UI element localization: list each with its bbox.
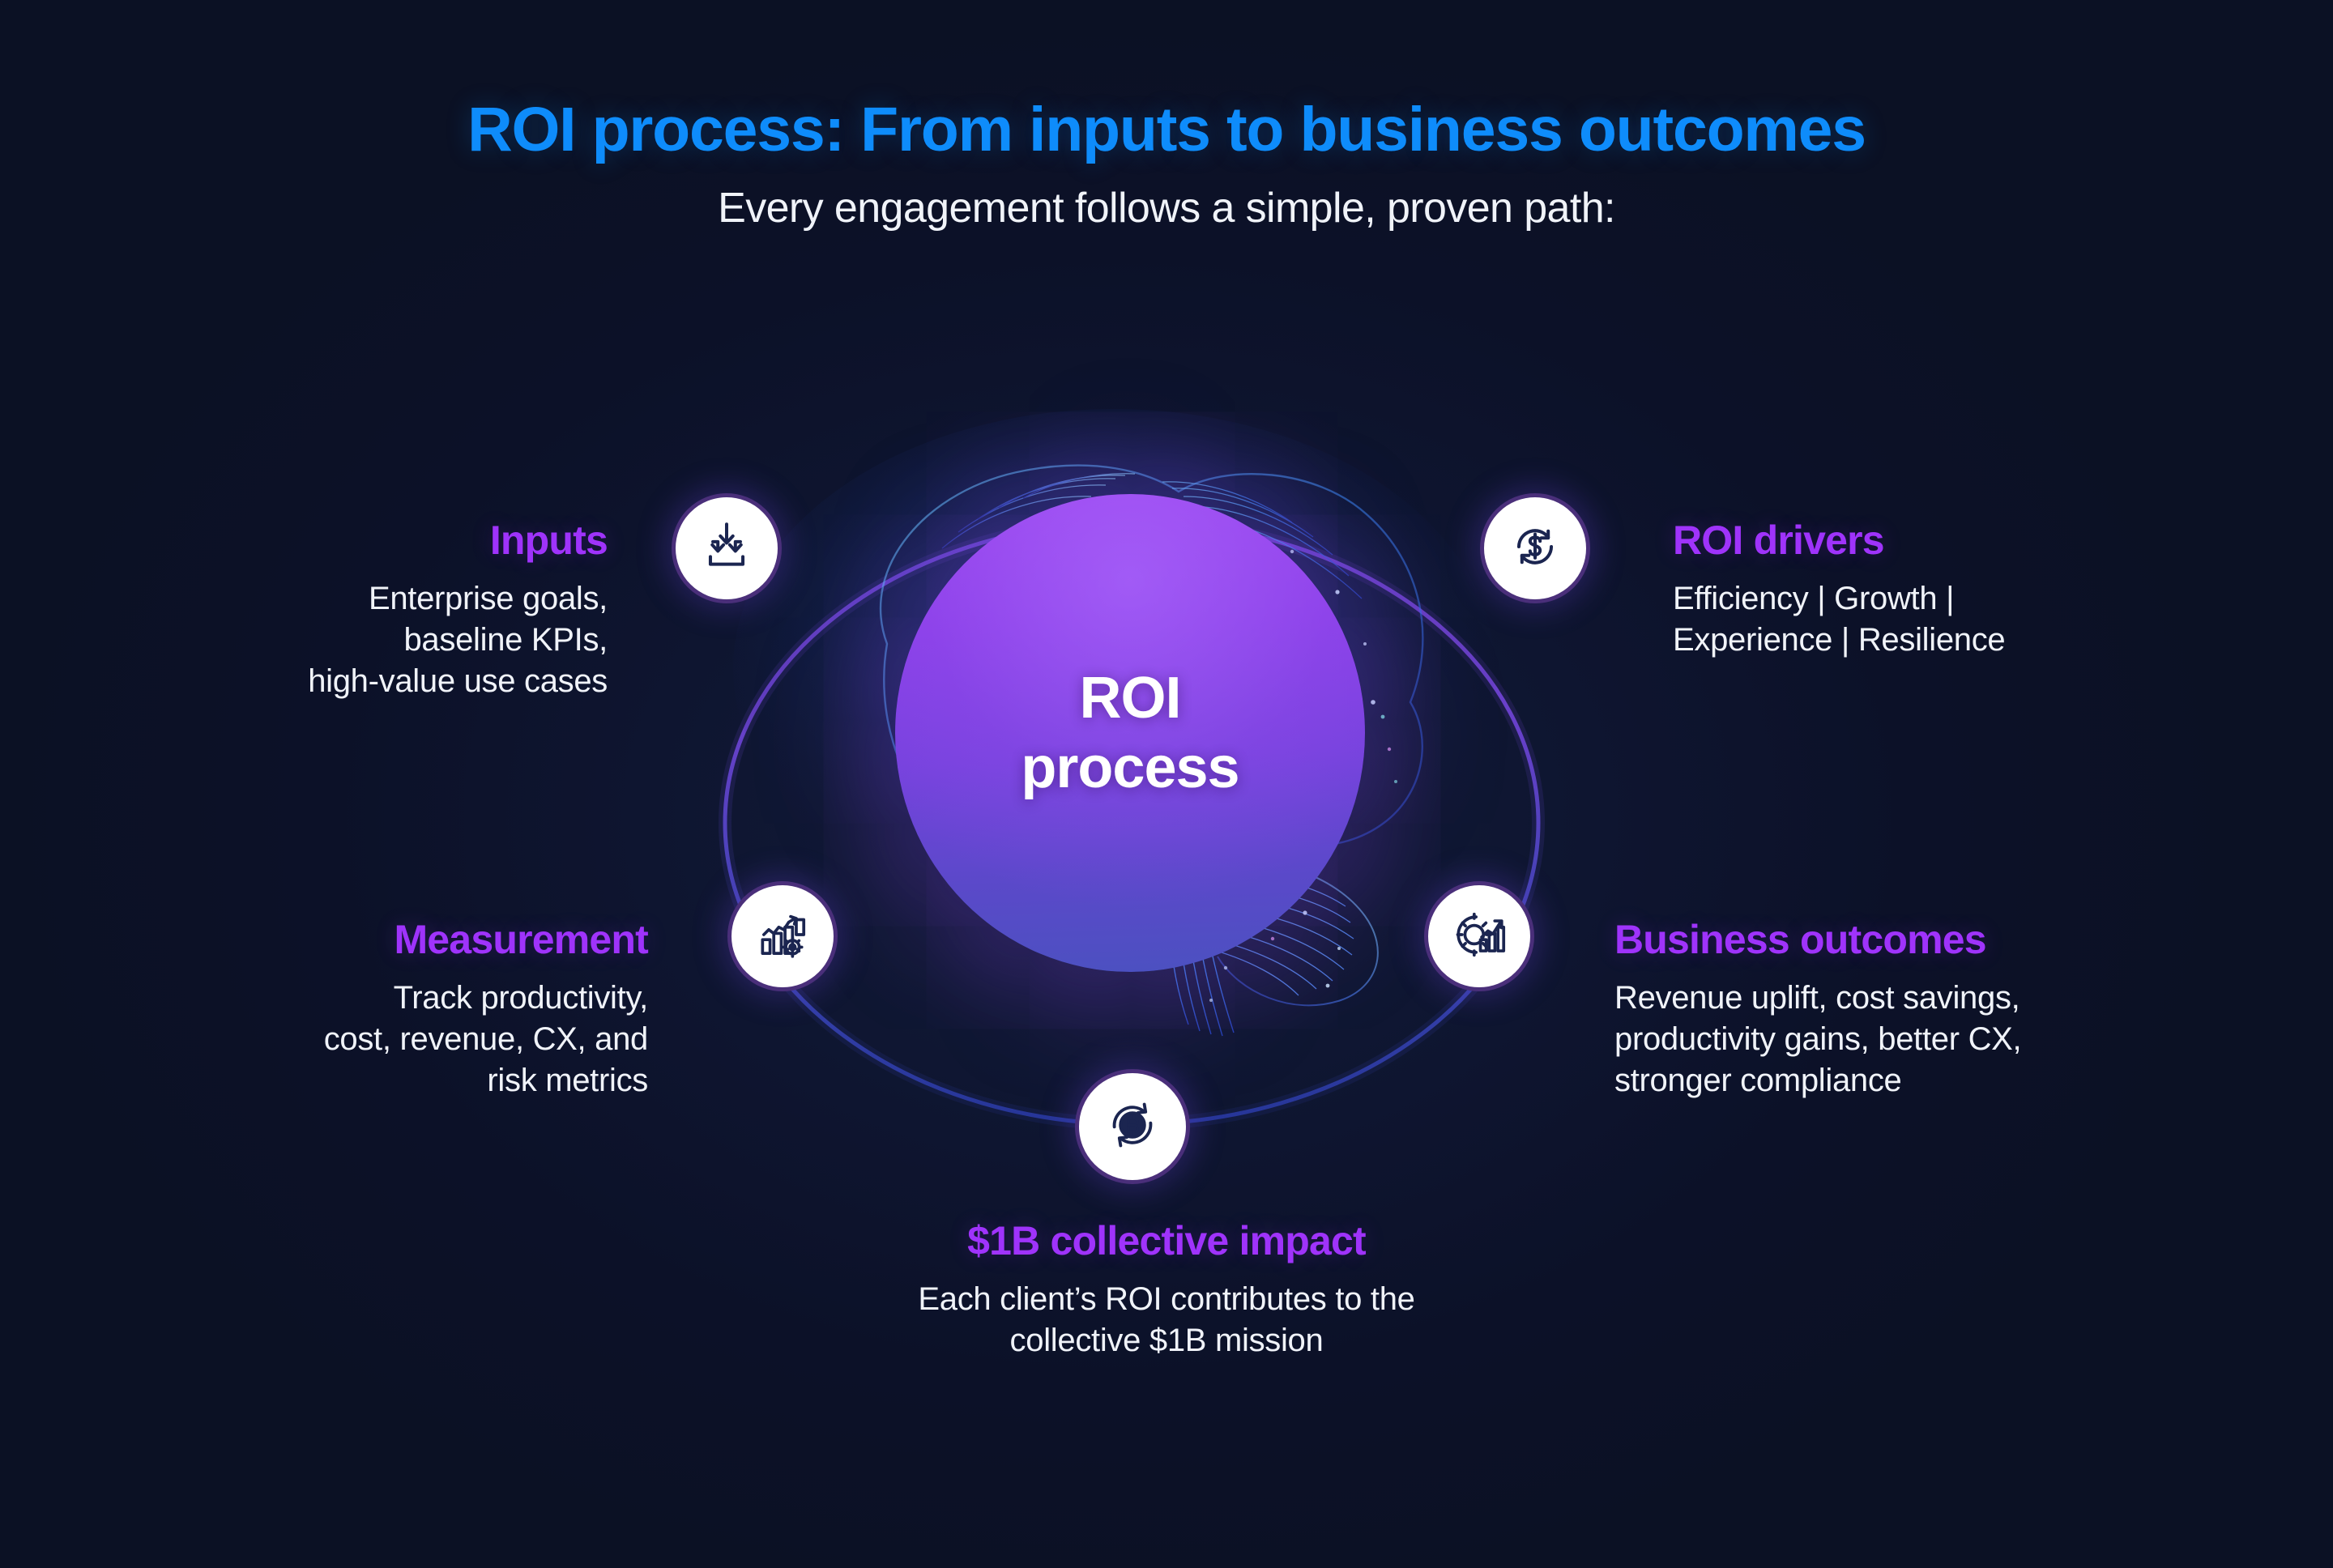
node-collective-impact[interactable] bbox=[1075, 1069, 1190, 1184]
block-measurement: Measurement Track productivity, cost, re… bbox=[130, 918, 648, 1102]
block-inputs-heading: Inputs bbox=[105, 518, 608, 562]
block-business-outcomes-heading: Business outcomes bbox=[1614, 918, 2254, 961]
dollar-refresh-icon bbox=[1505, 517, 1565, 581]
arrows-into-tray-icon bbox=[697, 517, 757, 581]
block-business-outcomes: Business outcomes Revenue uplift, cost s… bbox=[1614, 918, 2254, 1102]
block-collective-impact-body: Each client’s ROI contributes to the col… bbox=[0, 1279, 2333, 1361]
infographic-canvas: ROI process: From inputs to business out… bbox=[0, 0, 2333, 1568]
node-business-outcomes[interactable] bbox=[1424, 881, 1534, 991]
block-collective-impact-heading: $1B collective impact bbox=[0, 1219, 2333, 1263]
block-measurement-heading: Measurement bbox=[130, 918, 648, 961]
gear-growth-chart-icon bbox=[1449, 905, 1509, 969]
center-label: ROI process bbox=[895, 494, 1365, 972]
block-roi-drivers-heading: ROI drivers bbox=[1673, 518, 2240, 562]
node-measurement[interactable] bbox=[727, 881, 838, 991]
block-business-outcomes-body: Revenue uplift, cost savings, productivi… bbox=[1614, 978, 2254, 1102]
bar-chart-gear-icon bbox=[753, 905, 812, 969]
center-label-line2: process bbox=[1021, 735, 1239, 801]
block-collective-impact: $1B collective impact Each client’s ROI … bbox=[0, 1219, 2333, 1361]
page-title: ROI process: From inputs to business out… bbox=[0, 97, 2333, 163]
page-subtitle: Every engagement follows a simple, prove… bbox=[0, 185, 2333, 232]
block-inputs: Inputs Enterprise goals, baseline KPIs, … bbox=[105, 518, 608, 703]
block-roi-drivers: ROI drivers Efficiency | Growth | Experi… bbox=[1673, 518, 2240, 661]
block-measurement-body: Track productivity, cost, revenue, CX, a… bbox=[130, 978, 648, 1102]
header: ROI process: From inputs to business out… bbox=[0, 97, 2333, 232]
block-inputs-body: Enterprise goals, baseline KPIs, high-va… bbox=[105, 578, 608, 703]
node-inputs[interactable] bbox=[672, 493, 782, 603]
node-roi-drivers[interactable] bbox=[1480, 493, 1590, 603]
bitcoin-refresh-icon bbox=[1103, 1095, 1162, 1159]
block-roi-drivers-body: Efficiency | Growth | Experience | Resil… bbox=[1673, 578, 2240, 661]
center-label-line1: ROI bbox=[1079, 665, 1180, 731]
